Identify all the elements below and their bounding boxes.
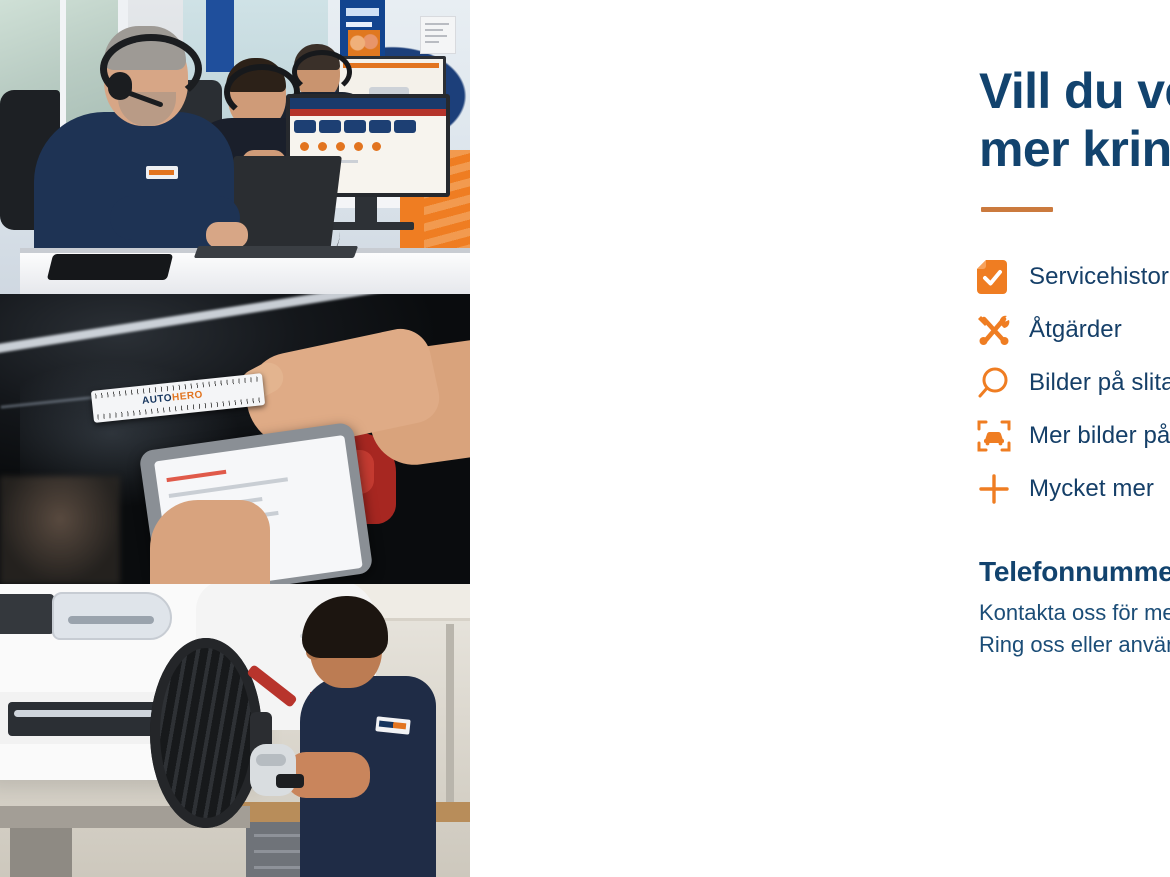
tablet-on-desk [47,254,173,280]
plus-icon [977,472,1029,506]
contact-line-1: Kontakta oss för mer information! [979,597,1170,629]
list-item: Bilder på slitage [977,356,1170,409]
car-headlight [52,592,172,640]
poster-figure-shape [348,30,380,56]
blue-band-shape [206,0,234,72]
laptop-base [194,246,358,258]
list-item-label: Servicehistoriken [1029,263,1170,291]
headline-line-1: Vill du veta [979,62,1170,120]
list-item-label: Åtgärder [1029,316,1122,344]
car-inspection-ruler-photo: AUTOHERO [0,294,470,584]
magnifier-icon [977,366,1029,400]
agent-front-hand [206,222,248,248]
content-panel: Vill du veta mer kring: Servicehistorike… [470,0,1170,877]
car-grille [0,594,54,634]
headline-line-2: mer kring: [979,120,1170,178]
agent-front-badge [146,166,178,179]
main-monitor-base [322,222,414,230]
car-scan-frame-icon [977,419,1029,453]
contact-line-2: Ring oss eller använd kontaktformuläret. [979,629,1170,661]
list-item-label: Mer bilder på bilen [1029,422,1170,450]
list-item: Mer bilder på bilen [977,409,1170,462]
list-item: Servicehistoriken [977,250,1170,303]
tyre-tread [160,648,252,818]
workshop-wheel-change-photo [0,584,470,877]
promo-page: AUTOHERO [0,0,1170,877]
list-item: Mycket mer [977,462,1170,515]
page-title: Vill du veta mer kring: [979,62,1170,178]
headset-icon [292,50,352,94]
feature-list: Servicehistoriken Åtgärder [977,250,1170,515]
checklist-document-icon [977,260,1029,294]
call-center-agents-photo [0,0,470,294]
wall-pipe [446,624,454,804]
tools-wrench-screwdriver-icon [977,313,1029,347]
mechanic-watch [276,774,304,788]
contact-block: Telefonnummer: +46812411432 Kontakta oss… [979,556,1170,661]
title-divider [981,207,1053,212]
mechanic-glove [250,744,296,796]
car-lift-leg [10,828,72,877]
background-blur [0,476,120,584]
list-item: Åtgärder [977,303,1170,356]
inspector-hand-2 [150,500,270,584]
photo-column: AUTOHERO [0,0,470,877]
phone-number[interactable]: Telefonnummer: +46812411432 [979,556,1170,588]
main-monitor-stand [355,197,377,225]
wall-sheet [420,16,456,54]
list-item-label: Bilder på slitage [1029,369,1170,397]
list-item-label: Mycket mer [1029,475,1154,503]
chrome-trim [14,710,170,717]
